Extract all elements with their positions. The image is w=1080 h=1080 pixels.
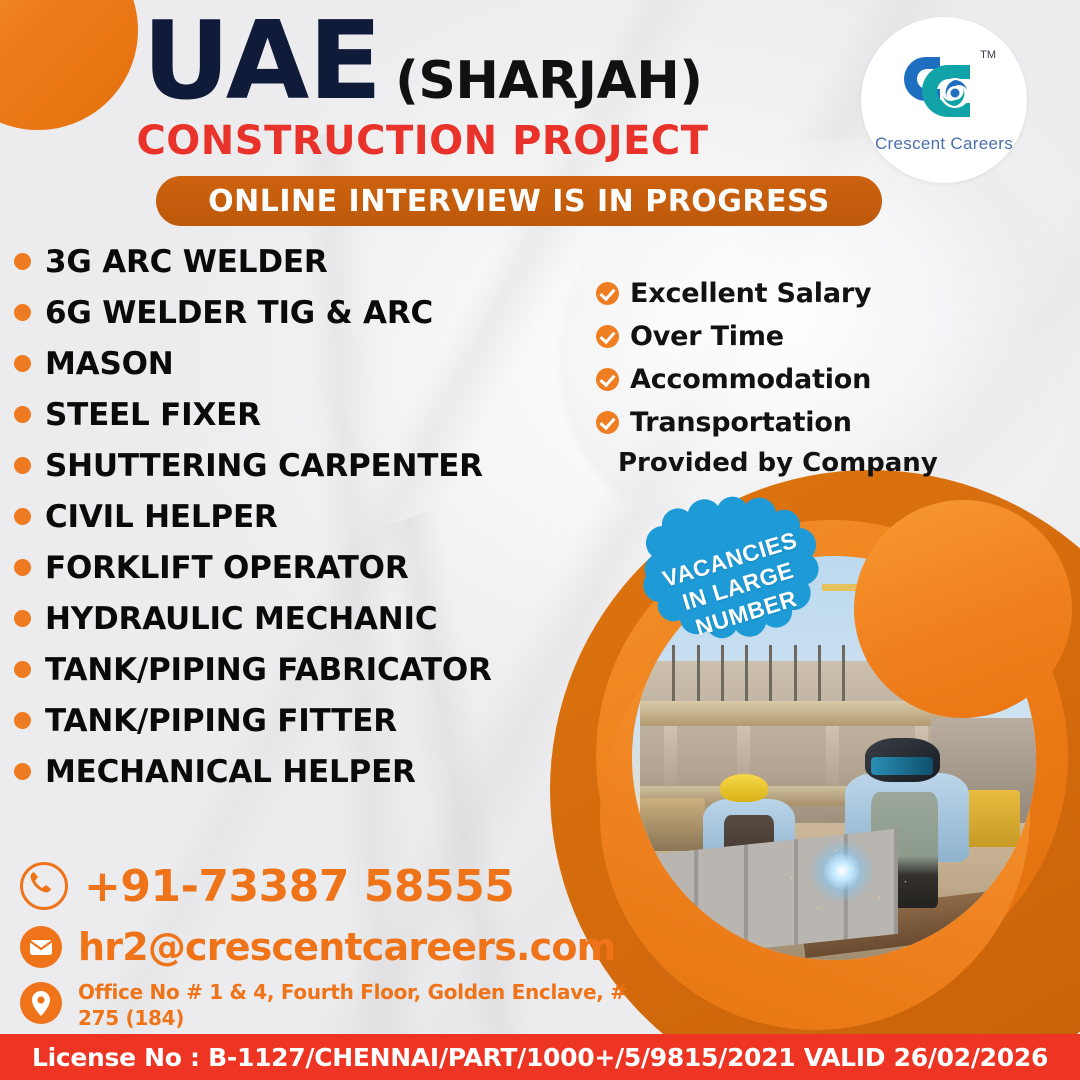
benefit-label: Over Time [630,321,784,352]
check-icon [596,325,619,348]
benefits-footnote: Provided by Company [618,448,938,478]
list-item: FORKLIFT OPERATOR [14,542,574,593]
list-item: Over Time [596,315,996,358]
photo-rebar [907,645,910,706]
list-item: Transportation [596,401,996,444]
title-country: UAE [142,8,381,116]
bullet-icon [14,661,31,678]
list-item: MECHANICAL HELPER [14,746,574,797]
trademark-symbol: TM [980,49,996,61]
list-item: TANK/PIPING FABRICATOR [14,644,574,695]
contact-email-row[interactable]: hr2@crescentcareers.com [20,920,640,974]
company-name: Crescent Careers [875,134,1013,154]
recruitment-poster: UAE (SHARJAH) CONSTRUCTION PROJECT ONLIN… [0,0,1080,1080]
job-title: FORKLIFT OPERATOR [45,550,409,586]
job-title: STEEL FIXER [45,397,261,433]
bullet-icon [14,355,31,372]
check-icon [596,282,619,305]
phone-number: +91-73387 58555 [84,861,514,912]
photo-yellow-hard-hat [720,774,768,801]
job-positions-list: 3G ARC WELDER 6G WELDER TIG & ARC MASON … [14,236,574,797]
bullet-icon [14,559,31,576]
bullet-icon [14,763,31,780]
license-bar: License No : B-1127/CHENNAI/PART/1000+/5… [0,1034,1080,1080]
benefit-label: Transportation [630,407,852,438]
benefits-list: Excellent Salary Over Time Accommodation… [596,272,996,444]
interview-status-banner: ONLINE INTERVIEW IS IN PROGRESS [156,176,882,226]
list-item: Accommodation [596,358,996,401]
job-title: MASON [45,346,173,382]
check-icon [596,368,619,391]
bullet-icon [14,304,31,321]
contact-phone-row[interactable]: +91-73387 58555 [20,858,640,914]
photo-rebar [931,645,934,706]
title-subtitle: CONSTRUCTION PROJECT [0,118,845,164]
email-address: hr2@crescentcareers.com [78,925,615,969]
job-title: TANK/PIPING FABRICATOR [45,652,492,688]
check-icon [596,411,619,434]
job-title: 6G WELDER TIG & ARC [45,295,433,331]
bullet-icon [14,712,31,729]
location-pin-icon [20,982,62,1024]
photo-welding-visor [871,757,933,774]
phone-icon [20,862,68,910]
list-item: 3G ARC WELDER [14,236,574,287]
bullet-icon [14,253,31,270]
interview-status-text: ONLINE INTERVIEW IS IN PROGRESS [208,184,830,219]
job-title: CIVIL HELPER [45,499,278,535]
job-title: TANK/PIPING FITTER [45,703,397,739]
title-city: (SHARJAH) [395,55,702,107]
email-icon [20,926,62,968]
benefit-label: Accommodation [630,364,871,395]
list-item: TANK/PIPING FITTER [14,695,574,746]
list-item: STEEL FIXER [14,389,574,440]
address-line-1: Office No # 1 & 4, Fourth Floor, Golden … [78,980,640,1031]
list-item: HYDRAULIC MECHANIC [14,593,574,644]
photo-truck [640,798,705,851]
photo-spark-particles [777,839,922,936]
list-item: CIVIL HELPER [14,491,574,542]
job-title: SHUTTERING CARPENTER [45,448,483,484]
list-item: Excellent Salary [596,272,996,315]
list-item: SHUTTERING CARPENTER [14,440,574,491]
vacancies-badge: VACANCIES IN LARGE NUMBER [622,492,854,680]
list-item: MASON [14,338,574,389]
benefit-label: Excellent Salary [630,278,871,309]
bullet-icon [14,508,31,525]
bullet-icon [14,457,31,474]
logo-c-mark-icon: TM [896,51,992,131]
photo-column [826,726,839,823]
bullet-icon [14,610,31,627]
page-title: UAE (SHARJAH) [0,8,845,116]
photo-concrete-slab [640,701,971,725]
job-title: 3G ARC WELDER [45,244,328,280]
job-title: HYDRAULIC MECHANIC [45,601,437,637]
job-title: MECHANICAL HELPER [45,754,416,790]
list-item: 6G WELDER TIG & ARC [14,287,574,338]
bullet-icon [14,406,31,423]
license-number: License No : B-1127/CHENNAI/PART/1000+/5… [32,1043,1048,1072]
company-logo: TM Crescent Careers [861,17,1027,183]
